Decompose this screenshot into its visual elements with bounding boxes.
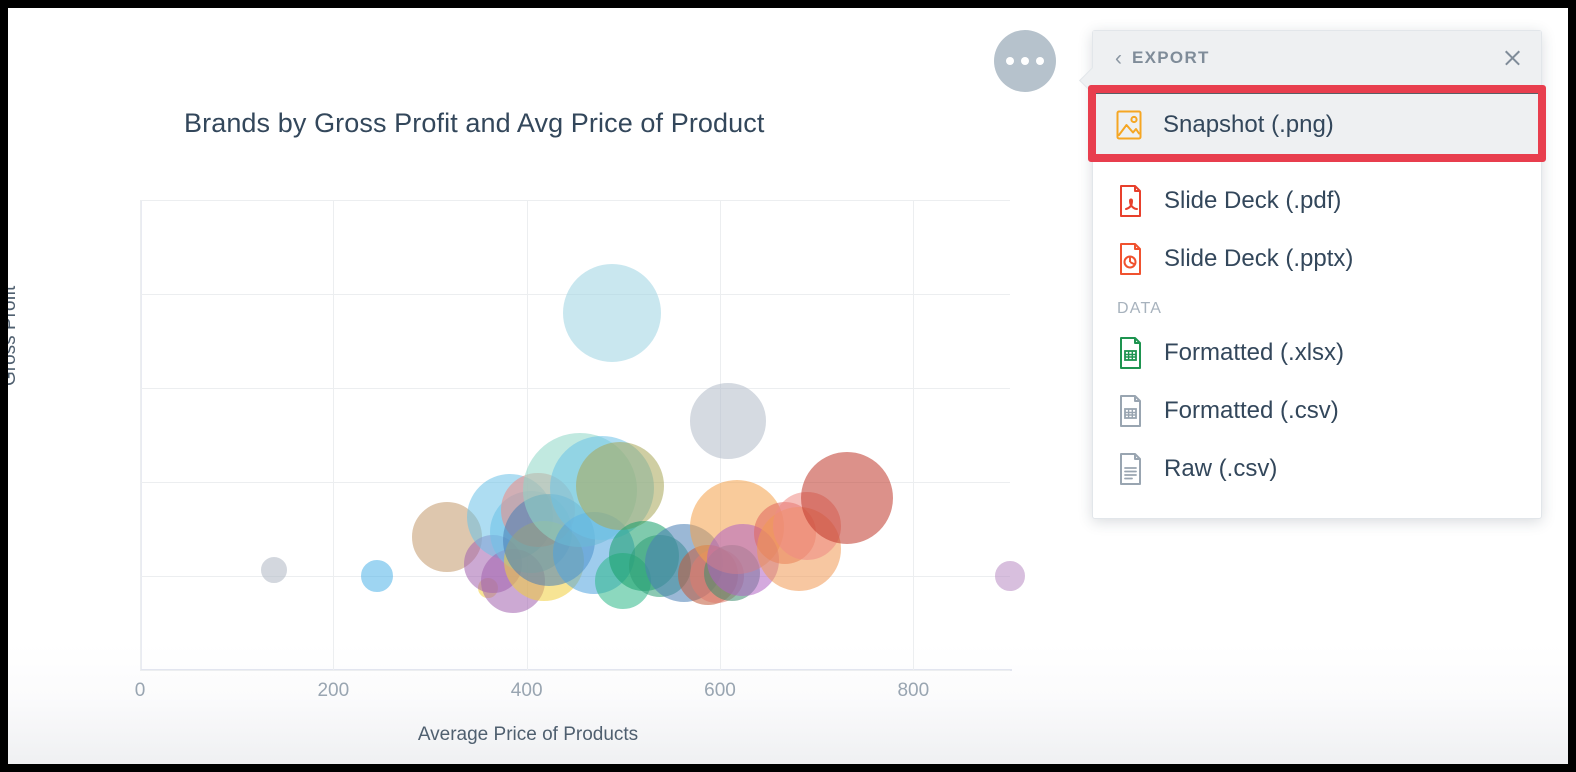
pdf-icon — [1115, 184, 1145, 218]
gridline-horizontal — [140, 670, 1010, 671]
x-axis-tick-label: 400 — [511, 680, 543, 702]
menu-item-formatted-xlsx[interactable]: Formatted (.xlsx) — [1093, 324, 1541, 382]
bubble-chart-card: Brands by Gross Profit and Avg Price of … — [8, 8, 1048, 764]
gridline-vertical — [140, 200, 141, 670]
export-panel-title: EXPORT — [1132, 48, 1210, 68]
menu-item-label: Snapshot (.png) — [1163, 111, 1334, 139]
raw-csv-icon — [1115, 452, 1145, 486]
plot-area — [140, 200, 1010, 670]
chart-title: Brands by Gross Profit and Avg Price of … — [184, 108, 764, 139]
close-icon[interactable] — [1501, 47, 1523, 69]
x-axis-tick-label: 800 — [897, 680, 929, 702]
y-axis-label: Gross Profit — [8, 286, 21, 386]
gridline-horizontal — [140, 200, 1010, 201]
x-axis-tick-label: 200 — [317, 680, 349, 702]
menu-item-slide-deck-pdf[interactable]: Slide Deck (.pdf) — [1093, 172, 1541, 230]
snapshot-row-wrapper: Snapshot (.png) — [1092, 91, 1542, 156]
x-axis-tick-label: 0 — [135, 680, 146, 702]
bubble-point[interactable] — [576, 442, 664, 530]
more-options-button[interactable] — [994, 30, 1056, 92]
back-chevron-icon[interactable]: ‹ — [1115, 48, 1122, 69]
x-axis-tick-label: 600 — [704, 680, 736, 702]
bubble-point[interactable] — [563, 264, 661, 362]
menu-item-slide-deck-pptx[interactable]: Slide Deck (.pptx) — [1093, 230, 1541, 288]
menu-item-label: Slide Deck (.pptx) — [1164, 245, 1353, 273]
kebab-dot-2 — [1021, 57, 1029, 65]
export-panel: ‹ EXPORT Snapshot (.png) — [1092, 30, 1542, 519]
kebab-dot-3 — [1036, 57, 1044, 65]
kebab-dot-1 — [1006, 57, 1014, 65]
gridline-horizontal — [140, 388, 1010, 389]
bubble-point[interactable] — [261, 557, 287, 583]
xlsx-icon — [1115, 336, 1145, 370]
bubble-point[interactable] — [801, 452, 893, 544]
bubble-point[interactable] — [995, 561, 1025, 591]
x-axis-label: Average Price of Products — [8, 724, 1048, 746]
gridline-vertical — [333, 200, 334, 670]
csv-icon — [1115, 394, 1145, 428]
menu-item-label: Slide Deck (.pdf) — [1164, 187, 1341, 215]
gridline-vertical — [913, 200, 914, 670]
app-root: Brands by Gross Profit and Avg Price of … — [8, 8, 1568, 764]
menu-item-label: Formatted (.csv) — [1164, 397, 1339, 425]
data-section-label: DATA — [1093, 288, 1541, 324]
export-panel-body: Snapshot (.png) Slide Deck (.pdf) — [1093, 86, 1541, 518]
bubble-point[interactable] — [690, 383, 766, 459]
menu-item-raw-csv[interactable]: Raw (.csv) — [1093, 440, 1541, 498]
pptx-icon — [1115, 242, 1145, 276]
menu-item-snapshot-png[interactable]: Snapshot (.png) — [1092, 91, 1542, 156]
image-icon — [1114, 108, 1144, 142]
menu-item-label: Formatted (.xlsx) — [1164, 339, 1344, 367]
bubble-point[interactable] — [361, 560, 393, 592]
menu-item-label: Raw (.csv) — [1164, 455, 1277, 483]
menu-item-formatted-csv[interactable]: Formatted (.csv) — [1093, 382, 1541, 440]
export-panel-header: ‹ EXPORT — [1093, 31, 1541, 86]
